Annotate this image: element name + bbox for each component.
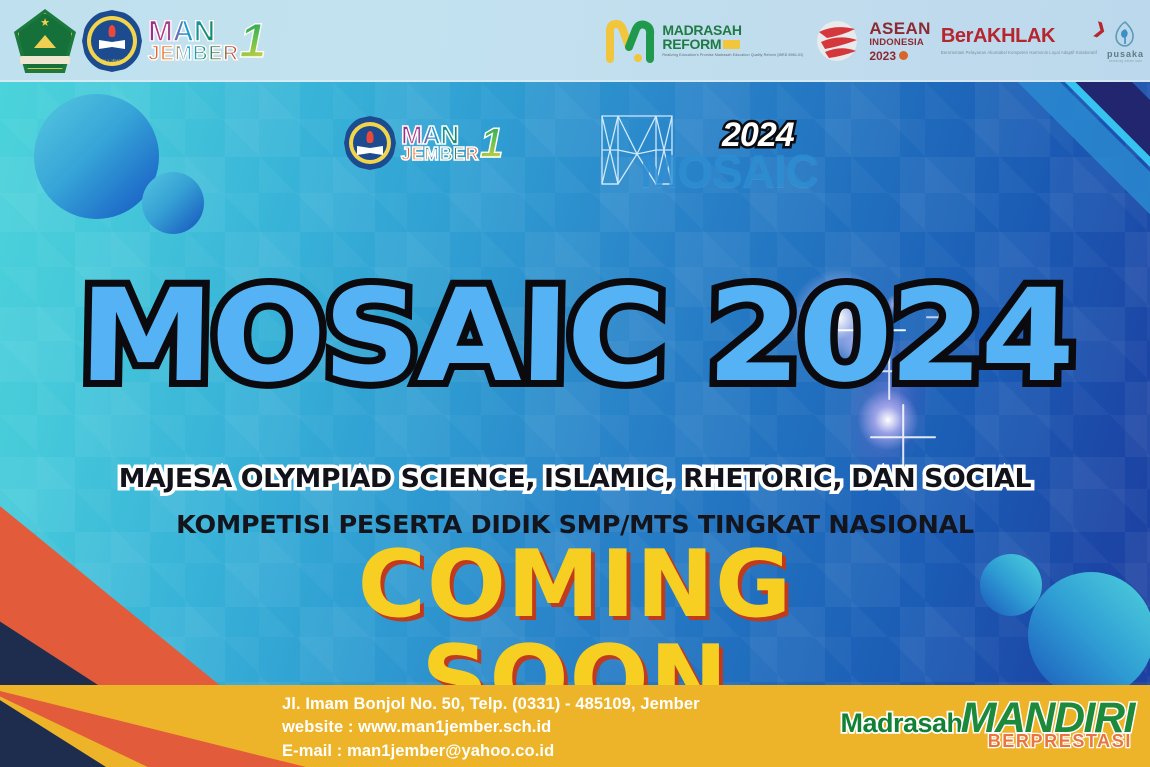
header-left-logo-group: ★ MAN 1 JEMBER MAN JEMBER 1 — [0, 9, 266, 73]
wordmark-stack: MAN JEMBER — [401, 124, 479, 163]
wordmark-jember: JEMBER — [148, 45, 239, 63]
asean-text-block: ASEAN INDONESIA 2023 — [869, 20, 931, 62]
asean-line3: 2023 — [869, 50, 931, 62]
contact-info-block: Jl. Imam Bonjol No. 50, Telp. (0331) - 4… — [282, 693, 700, 763]
subtitle-primary: MAJESA OLYMPIAD SCIENCE, ISLAMIC, RHETOR… — [119, 464, 1031, 494]
ribbon-banner — [20, 56, 70, 64]
asean-line2: INDONESIA — [869, 38, 931, 48]
banner-stage: MAN JEMBER 1 — [0, 82, 1150, 767]
year-badge-2024: 2024 — [722, 116, 794, 155]
pusaka-title: pusaka — [1107, 49, 1144, 59]
pusaka-tagline: kemenag dalam satu — [1107, 59, 1144, 63]
madrasah-mandiri-berprestasi-logo: Madrasah MANDIRI BERPRESTASI — [841, 699, 1135, 755]
pusaka-leaf-svg — [1112, 20, 1138, 48]
seal-arc-label: MAN 1 JEMBER — [82, 59, 142, 63]
mr-monogram-svg — [605, 19, 657, 63]
asean-dot-icon — [899, 51, 908, 60]
asean-globe-svg — [813, 18, 865, 64]
asean-year: 2023 — [869, 50, 896, 62]
header-divider — [0, 80, 1150, 82]
subtitle-primary-container: MAJESA OLYMPIAD SCIENCE, ISLAMIC, RHETOR… — [0, 464, 1150, 494]
wordmark-jember: JEMBER — [401, 147, 479, 163]
stage-man1-jember-lockup: MAN JEMBER 1 — [344, 114, 503, 172]
mr-line1: MADRASAH — [662, 23, 803, 37]
asean-globe-icon — [813, 18, 865, 64]
asean-indonesia-logo: ASEAN INDONESIA 2023 — [813, 18, 931, 64]
coming-soon-line-1: COMING — [0, 540, 1150, 629]
mmb-right-group: MANDIRI BERPRESTASI — [961, 699, 1134, 739]
wordmark-numeral-one: 1 — [480, 119, 503, 167]
mmb-word-madrasah: Madrasah — [841, 708, 963, 739]
contact-website[interactable]: website : www.man1jember.sch.id — [282, 716, 700, 739]
kemenag-logo: ★ — [14, 9, 76, 73]
header-right-logo-group: MADRASAH REFORM Realizing Education's Pr… — [605, 0, 1144, 82]
star-icon: ★ — [40, 18, 50, 29]
mr-text-block: MADRASAH REFORM Realizing Education's Pr… — [662, 23, 803, 58]
mr-monogram-icon — [605, 19, 657, 63]
man1-jember-seal: MAN 1 JEMBER — [82, 10, 142, 72]
mr-line2-text: REFORM — [662, 37, 721, 51]
wordmark-man: MAN — [148, 19, 239, 45]
wordmark-numeral-one: 1 — [240, 14, 267, 69]
mmb-word-berprestasi: BERPRESTASI — [988, 731, 1132, 752]
mr-line2: REFORM — [662, 37, 803, 51]
headline-container: MOSAIC 2024 — [0, 278, 1150, 396]
berakhlak-tagline: Berorientasi Pelayanan Akuntabel Kompete… — [941, 50, 1097, 56]
torch-icon — [109, 25, 116, 37]
madrasah-reform-logo: MADRASAH REFORM Realizing Education's Pr… — [605, 19, 803, 63]
page-title: MOSAIC 2024 — [77, 278, 1072, 396]
wordmark-stack: MAN JEMBER — [148, 19, 239, 64]
mosaic-2024-banner: ★ MAN 1 JEMBER MAN JEMBER 1 — [0, 0, 1150, 767]
institution-logo-header: ★ MAN 1 JEMBER MAN JEMBER 1 — [0, 0, 1150, 82]
pusaka-logo: pusaka kemenag dalam satu — [1107, 20, 1144, 63]
berakhlak-title-text: BerAKHLAK — [941, 25, 1055, 47]
man1-jember-seal-stage — [344, 116, 396, 170]
mr-accent-chip — [723, 40, 740, 49]
torch-icon — [367, 131, 374, 143]
stage-logo-row: MAN JEMBER 1 — [0, 110, 1150, 190]
pusaka-leaf-icon — [1112, 20, 1138, 48]
man1-jember-wordmark-stage: MAN JEMBER 1 — [401, 114, 503, 172]
contact-address: Jl. Imam Bonjol No. 50, Telp. (0331) - 4… — [282, 693, 700, 716]
contact-email[interactable]: E-mail : man1jember@yahoo.co.id — [282, 740, 700, 763]
berakhlak-logo: BerAKHLAK ❯ Berorientasi Pelayanan Akunt… — [941, 25, 1097, 56]
asean-line1: ASEAN — [869, 20, 931, 37]
berakhlak-title: BerAKHLAK ❯ — [941, 25, 1097, 48]
chevron-right-icon: ❯ — [1091, 19, 1108, 40]
mr-tagline: Realizing Education's Promise Madrasah E… — [662, 53, 803, 58]
man1-jember-wordmark: MAN JEMBER 1 — [148, 12, 266, 70]
footer-contact-bar: Jl. Imam Bonjol No. 50, Telp. (0331) - 4… — [0, 685, 1150, 767]
